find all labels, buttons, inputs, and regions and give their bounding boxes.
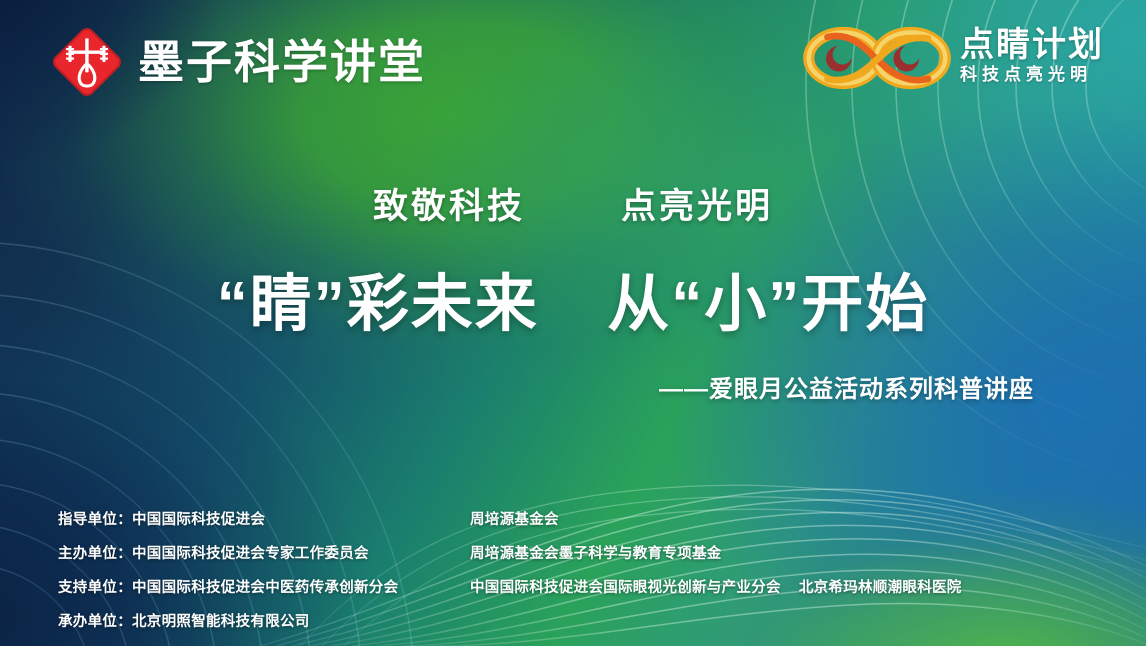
kicker-right: 点亮光明 bbox=[621, 178, 773, 229]
poster-kicker: 致敬科技 点亮光明 bbox=[0, 178, 1146, 229]
credit-value: 周培源基金会 bbox=[470, 508, 559, 529]
brand-right: 点睛计划 科技点亮光明 bbox=[802, 20, 1104, 96]
credit-row: 指导单位：中国国际科技促进会 周培源基金会 bbox=[58, 508, 1088, 529]
infinity-eyes-emblem-icon bbox=[802, 20, 952, 96]
dianjing-brand-text: 点睛计划 科技点亮光明 bbox=[960, 28, 1104, 88]
poster-root: 墨子科学讲堂 点睛计划 科技点亮光明 bbox=[0, 0, 1146, 646]
poster-headline: “睛”彩未来 从“小”开始 bbox=[0, 253, 1146, 343]
dianjing-brand-title: 点睛计划 bbox=[960, 28, 1104, 64]
credit-label: 支持单位：中国国际科技促进会中医药传承创新分会 bbox=[58, 576, 470, 597]
mozi-diamond-emblem-icon bbox=[50, 25, 124, 99]
credit-row: 主办单位：中国国际科技促进会专家工作委员会 周培源基金会墨子科学与教育专项基金 bbox=[58, 542, 1088, 563]
poster-header: 墨子科学讲堂 点睛计划 科技点亮光明 bbox=[0, 0, 1146, 120]
credit-label: 承办单位：北京明照智能科技有限公司 bbox=[58, 610, 470, 631]
credit-label: 主办单位：中国国际科技促进会专家工作委员会 bbox=[58, 542, 470, 563]
kicker-left: 致敬科技 bbox=[373, 178, 525, 229]
credit-value: 周培源基金会墨子科学与教育专项基金 bbox=[470, 542, 722, 563]
credits-block: 指导单位：中国国际科技促进会 周培源基金会 主办单位：中国国际科技促进会专家工作… bbox=[58, 508, 1088, 644]
credit-value: 中国国际科技促进会国际眼视光创新与产业分会 bbox=[470, 576, 781, 597]
headline-part-1: “睛”彩未来 bbox=[217, 270, 539, 339]
credit-row: 支持单位：中国国际科技促进会中医药传承创新分会 中国国际科技促进会国际眼视光创新… bbox=[58, 576, 1088, 597]
dianjing-brand-slogan: 科技点亮光明 bbox=[960, 66, 1092, 84]
headline-part-2: 从“小”开始 bbox=[607, 270, 929, 339]
brand-left: 墨子科学讲堂 bbox=[50, 25, 426, 99]
mozi-brand-title: 墨子科学讲堂 bbox=[138, 39, 426, 85]
credit-label: 指导单位：中国国际科技促进会 bbox=[58, 508, 470, 529]
poster-title-block: 致敬科技 点亮光明 “睛”彩未来 从“小”开始 ——爱眼月公益活动系列科普讲座 bbox=[0, 178, 1146, 404]
credit-value: 北京希玛林顺潮眼科医院 bbox=[799, 576, 962, 597]
credit-row: 承办单位：北京明照智能科技有限公司 bbox=[58, 610, 1088, 631]
poster-subtitle: ——爱眼月公益活动系列科普讲座 bbox=[0, 369, 1146, 404]
